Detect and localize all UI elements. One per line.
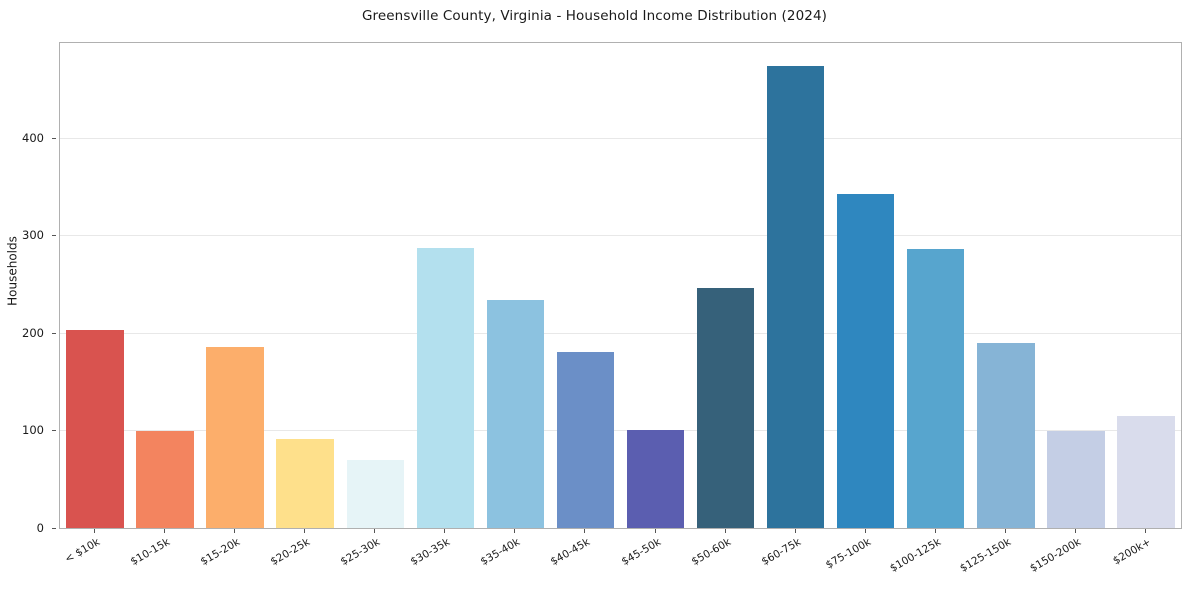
y-tick-mark: [52, 528, 56, 529]
x-tick-label: < $10k: [44, 536, 102, 576]
y-tick-label: 400: [22, 131, 44, 145]
bar[interactable]: [136, 431, 193, 528]
x-tick-label: $10-15k: [114, 536, 172, 576]
x-tick-mark: [94, 529, 95, 533]
bar[interactable]: [66, 330, 123, 528]
x-tick-mark: [584, 529, 585, 533]
y-axis-title: Households: [6, 28, 20, 515]
y-tick-label: 200: [22, 326, 44, 340]
x-tick-mark: [725, 529, 726, 533]
chart-title: Greensville County, Virginia - Household…: [0, 8, 1189, 24]
y-tick-mark: [52, 138, 56, 139]
bar[interactable]: [1117, 416, 1174, 528]
y-tick-label: 100: [22, 423, 44, 437]
x-tick-label: $40-45k: [535, 536, 593, 576]
x-tick-mark: [514, 529, 515, 533]
x-tick-label: $20-25k: [254, 536, 312, 576]
bar[interactable]: [907, 249, 964, 528]
bar[interactable]: [206, 347, 263, 528]
y-tick-mark: [52, 235, 56, 236]
x-tick-label: $45-50k: [605, 536, 663, 576]
y-tick-label: 0: [37, 521, 44, 535]
bar[interactable]: [837, 194, 894, 528]
bar[interactable]: [557, 352, 614, 528]
x-tick-label: $25-30k: [324, 536, 382, 576]
x-tick-mark: [1075, 529, 1076, 533]
y-tick-label: 300: [22, 228, 44, 242]
x-tick-mark: [865, 529, 866, 533]
x-tick-mark: [234, 529, 235, 533]
bar[interactable]: [487, 300, 544, 528]
x-tick-mark: [164, 529, 165, 533]
bar[interactable]: [627, 430, 684, 528]
y-tick-mark: [52, 430, 56, 431]
plot-area: [60, 43, 1181, 528]
x-tick-label: $75-100k: [815, 536, 873, 576]
x-tick-label: $35-40k: [464, 536, 522, 576]
y-tick-mark: [52, 333, 56, 334]
x-axis-labels: < $10k$10-15k$15-20k$20-25k$25-30k$30-35…: [59, 529, 1182, 590]
x-tick-label: $60-75k: [745, 536, 803, 576]
x-tick-label: $30-35k: [394, 536, 452, 576]
x-tick-label: $15-20k: [184, 536, 242, 576]
x-tick-mark: [1005, 529, 1006, 533]
x-tick-mark: [935, 529, 936, 533]
x-tick-mark: [444, 529, 445, 533]
chart-figure: Greensville County, Virginia - Household…: [0, 0, 1189, 590]
x-tick-label: $100-125k: [885, 536, 943, 576]
x-tick-label: $200k+: [1095, 536, 1153, 576]
x-tick-label: $50-60k: [675, 536, 733, 576]
x-tick-mark: [374, 529, 375, 533]
x-tick-mark: [1145, 529, 1146, 533]
bar[interactable]: [977, 343, 1034, 528]
x-tick-label: $150-200k: [1025, 536, 1083, 576]
bar[interactable]: [417, 248, 474, 528]
bar[interactable]: [697, 288, 754, 528]
bar[interactable]: [347, 460, 404, 528]
bar[interactable]: [276, 439, 333, 528]
bar-series: [60, 43, 1181, 528]
bar[interactable]: [1047, 431, 1104, 528]
x-tick-label: $125-150k: [955, 536, 1013, 576]
x-tick-mark: [655, 529, 656, 533]
bar[interactable]: [767, 66, 824, 528]
x-tick-mark: [795, 529, 796, 533]
plot-axes: [59, 42, 1182, 529]
x-tick-mark: [304, 529, 305, 533]
